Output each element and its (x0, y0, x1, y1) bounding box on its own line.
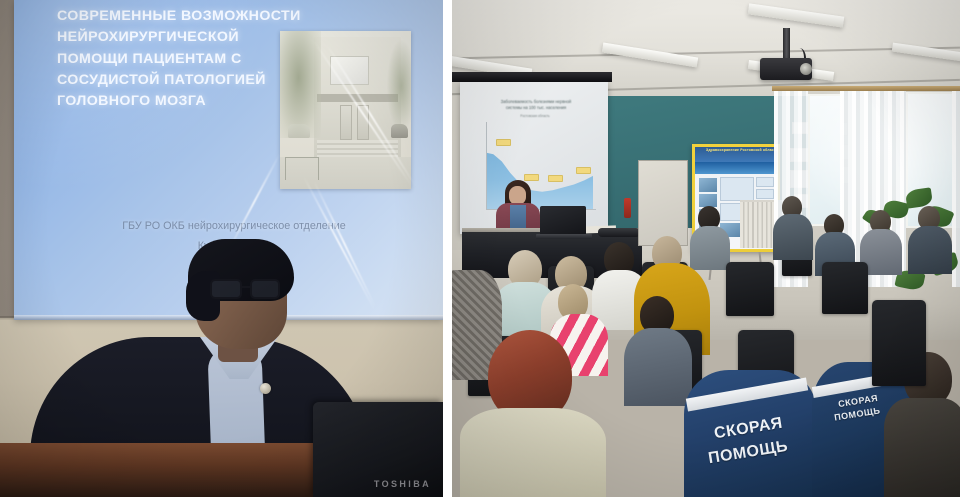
chart-plot-area (486, 122, 596, 214)
poster-title: Здравоохранение Ростовской области (706, 148, 778, 152)
projector-mount-rod (783, 28, 790, 61)
chart-y-axis (486, 122, 487, 210)
projector-lens (800, 63, 812, 75)
building-door-left (340, 105, 352, 140)
torso-cream (460, 408, 606, 497)
building-tree-left (280, 31, 321, 138)
poster-text-block-3 (756, 189, 774, 199)
lapel-pin (260, 383, 271, 394)
slide-title: СОВРЕМЕННЫЕ ВОЗМОЖНОСТИ НЕЙРОХИРУРГИЧЕСК… (57, 6, 307, 112)
collage-divider (443, 0, 452, 497)
poster-image-1 (699, 178, 717, 192)
chart-data-label-3 (576, 167, 591, 174)
chart-title: Заболеваемость болезнями нервной системы… (474, 99, 598, 111)
building-tree-right (387, 40, 411, 132)
poster-text-block-2 (756, 177, 774, 187)
eyeglasses-lens-right (250, 279, 280, 299)
slide-building-photo (280, 31, 411, 189)
torso (624, 328, 692, 406)
presenter-laptop-base (536, 234, 592, 239)
eyeglasses-lens-left (210, 279, 242, 299)
chart-subtitle: Ростовская область (480, 114, 590, 118)
chair-mid-3 (726, 262, 774, 316)
poster-text-block-1 (720, 177, 754, 201)
torso (773, 214, 813, 260)
torso (690, 226, 730, 270)
torso (908, 226, 952, 274)
eyeglasses-icon (210, 279, 282, 299)
chart-data-label-0 (496, 139, 511, 146)
whiteboard (638, 160, 688, 246)
chair-front-4 (872, 300, 926, 386)
chart-title-line1: Заболеваемость болезнями нервной (501, 99, 571, 104)
microphone-icon (598, 228, 640, 237)
slide-subtitle-line1: ГБУ РО ОКБ нейрохирургическое отделение (122, 220, 346, 232)
right-photo: Заболеваемость болезнями нервной системы… (452, 0, 960, 497)
chair-mid-4 (822, 262, 868, 314)
torso (884, 398, 960, 497)
poster-banner-graphic (695, 162, 777, 174)
photo-collage: СОВРЕМЕННЫЕ ВОЗМОЖНОСТИ НЕЙРОХИРУРГИЧЕСК… (0, 0, 960, 497)
left-photo: СОВРЕМЕННЫЕ ВОЗМОЖНОСТИ НЕЙРОХИРУРГИЧЕСК… (0, 0, 443, 497)
laptop-brand-label: TOSHIBA (374, 479, 431, 489)
chart-data-label-2 (548, 175, 563, 182)
screen-roller-case (452, 72, 612, 82)
chart-data-label-1 (524, 174, 539, 181)
presenter-laptop (540, 206, 586, 236)
fire-extinguisher-icon (624, 198, 631, 218)
laptop-left: TOSHIBA (313, 402, 443, 497)
chart-title-line2: системы на 100 тыс. населения (506, 105, 566, 110)
